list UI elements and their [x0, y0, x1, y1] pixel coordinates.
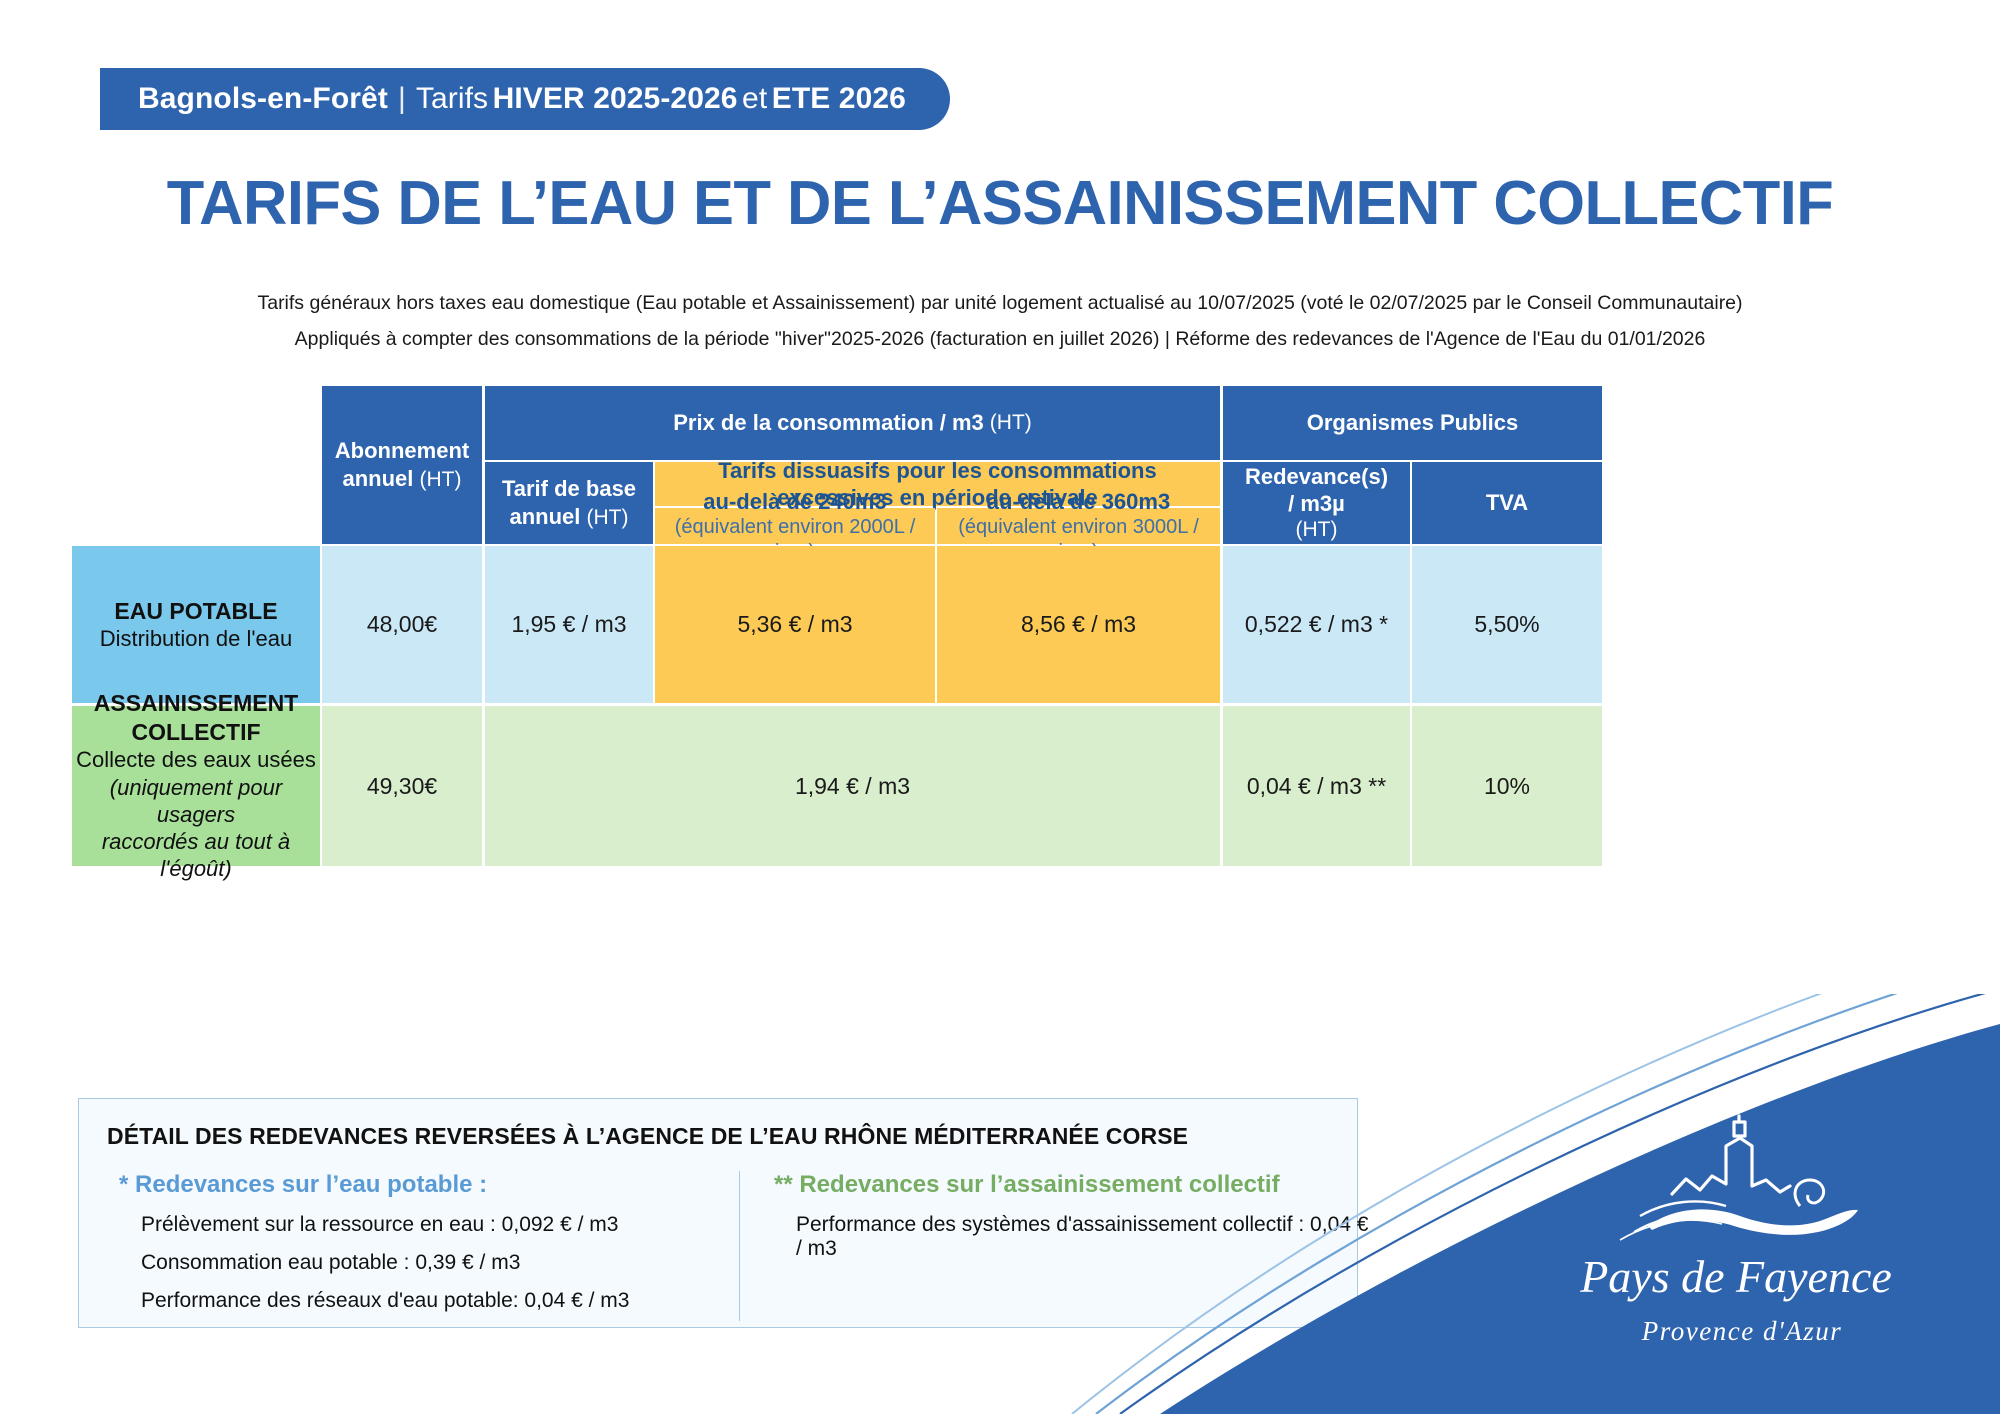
pricing-table: Abonnement annuel (HT) Prix de la consom…	[72, 386, 1928, 1080]
cell-eau-abonnement: 48,00€	[322, 546, 482, 703]
header-tva: TVA	[1412, 462, 1602, 544]
banner-label: Tarifs	[416, 82, 488, 116]
header-tarif-de-base: Tarif de base annuel (HT)	[485, 462, 653, 544]
header-banner: Bagnols-en-Forêt | Tarifs HIVER 2025-202…	[100, 68, 950, 130]
footer-column-eau-potable: * Redevances sur l’eau potable : Prélève…	[119, 1171, 679, 1327]
header-abonnement-line2: annuel (HT)	[342, 465, 461, 493]
cell-eau-seuil-240: 5,36 € / m3	[655, 546, 935, 703]
banner-period-2: ETE 2026	[772, 82, 906, 116]
footer-line-item: Prélèvement sur la ressource en eau : 0,…	[141, 1213, 679, 1237]
banner-commune: Bagnols-en-Forêt	[138, 82, 388, 116]
footer-heading-eau-potable: * Redevances sur l’eau potable :	[119, 1171, 679, 1199]
page-title: TARIFS DE L’EAU ET DE L’ASSAINISSEMENT C…	[10, 168, 1990, 239]
header-abonnement-line1: Abonnement	[335, 437, 469, 464]
header-redevance: Redevance(s) / m3µ (HT)	[1223, 462, 1410, 544]
cell-assainissement-abonnement: 49,30€	[322, 706, 482, 866]
banner-conjunction: et	[742, 82, 767, 116]
row-label-assainissement: ASSAINISSEMENT COLLECTIF Collecte des ea…	[72, 706, 320, 866]
header-prix-consommation: Prix de la consommation / m3 (HT)	[485, 386, 1220, 460]
cell-assainissement-consommation: 1,94 € / m3	[485, 706, 1220, 866]
header-organismes-publics: Organismes Publics	[1223, 386, 1602, 460]
footer-line-item: Consommation eau potable : 0,39 € / m3	[141, 1251, 679, 1275]
header-seuil-240: au-delà de 240m3 (équivalent environ 200…	[655, 508, 935, 544]
cell-eau-tarif-base: 1,95 € / m3	[485, 546, 653, 703]
cell-eau-seuil-360: 8,56 € / m3	[937, 546, 1220, 703]
cell-assainissement-redevance: 0,04 € / m3 **	[1223, 706, 1410, 866]
decorative-swoosh	[1000, 994, 2000, 1414]
subtitle-line-1: Tarifs généraux hors taxes eau domestiqu…	[0, 292, 2000, 315]
row-label-eau-potable: EAU POTABLE Distribution de l'eau	[72, 546, 320, 703]
banner-separator: |	[398, 82, 406, 116]
footer-line-item: Performance des réseaux d'eau potable: 0…	[141, 1289, 679, 1313]
header-seuil-360: au-delà de 360m3 (équivalent environ 300…	[937, 508, 1220, 544]
subtitle-line-2: Appliqués à compter des consommations de…	[0, 328, 2000, 351]
cell-assainissement-tva: 10%	[1412, 706, 1602, 866]
cell-eau-redevance: 0,522 € / m3 *	[1223, 546, 1410, 703]
banner-period-1: HIVER 2025-2026	[493, 82, 738, 116]
cell-eau-tva: 5,50%	[1412, 546, 1602, 703]
poster-root: Bagnols-en-Forêt | Tarifs HIVER 2025-202…	[0, 0, 2000, 1414]
header-abonnement: Abonnement annuel (HT)	[322, 386, 482, 544]
